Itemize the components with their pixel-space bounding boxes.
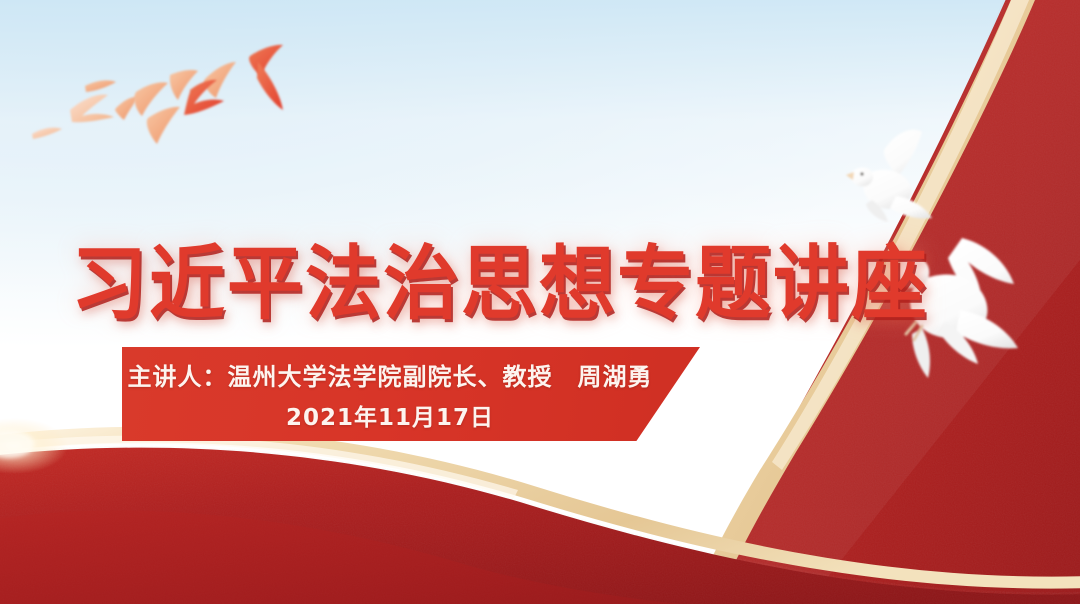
bird-icon [257, 62, 283, 110]
title-container: 习近平法治思想专题讲座 [0, 218, 1000, 328]
bird-icon [85, 80, 116, 92]
bird-icon [147, 107, 180, 144]
white-dove-upper [846, 130, 932, 222]
bird-icon [249, 45, 283, 76]
speaker-line: 主讲人：温州大学法学院副院长、教授 周湖勇 [128, 357, 653, 392]
bird-icon [204, 62, 236, 98]
page-title: 习近平法治思想专题讲座 [71, 218, 929, 335]
bird-icon [70, 95, 114, 123]
flying-birds-flock [32, 45, 283, 144]
poster-canvas: 习近平法治思想专题讲座 主讲人：温州大学法学院副院长、教授 周湖勇 2021年1… [0, 0, 1080, 604]
date-line: 2021年11月17日 [286, 398, 494, 432]
subtitle-banner: 主讲人：温州大学法学院副院长、教授 周湖勇 2021年11月17日 [122, 347, 700, 441]
bird-icon [32, 128, 62, 139]
